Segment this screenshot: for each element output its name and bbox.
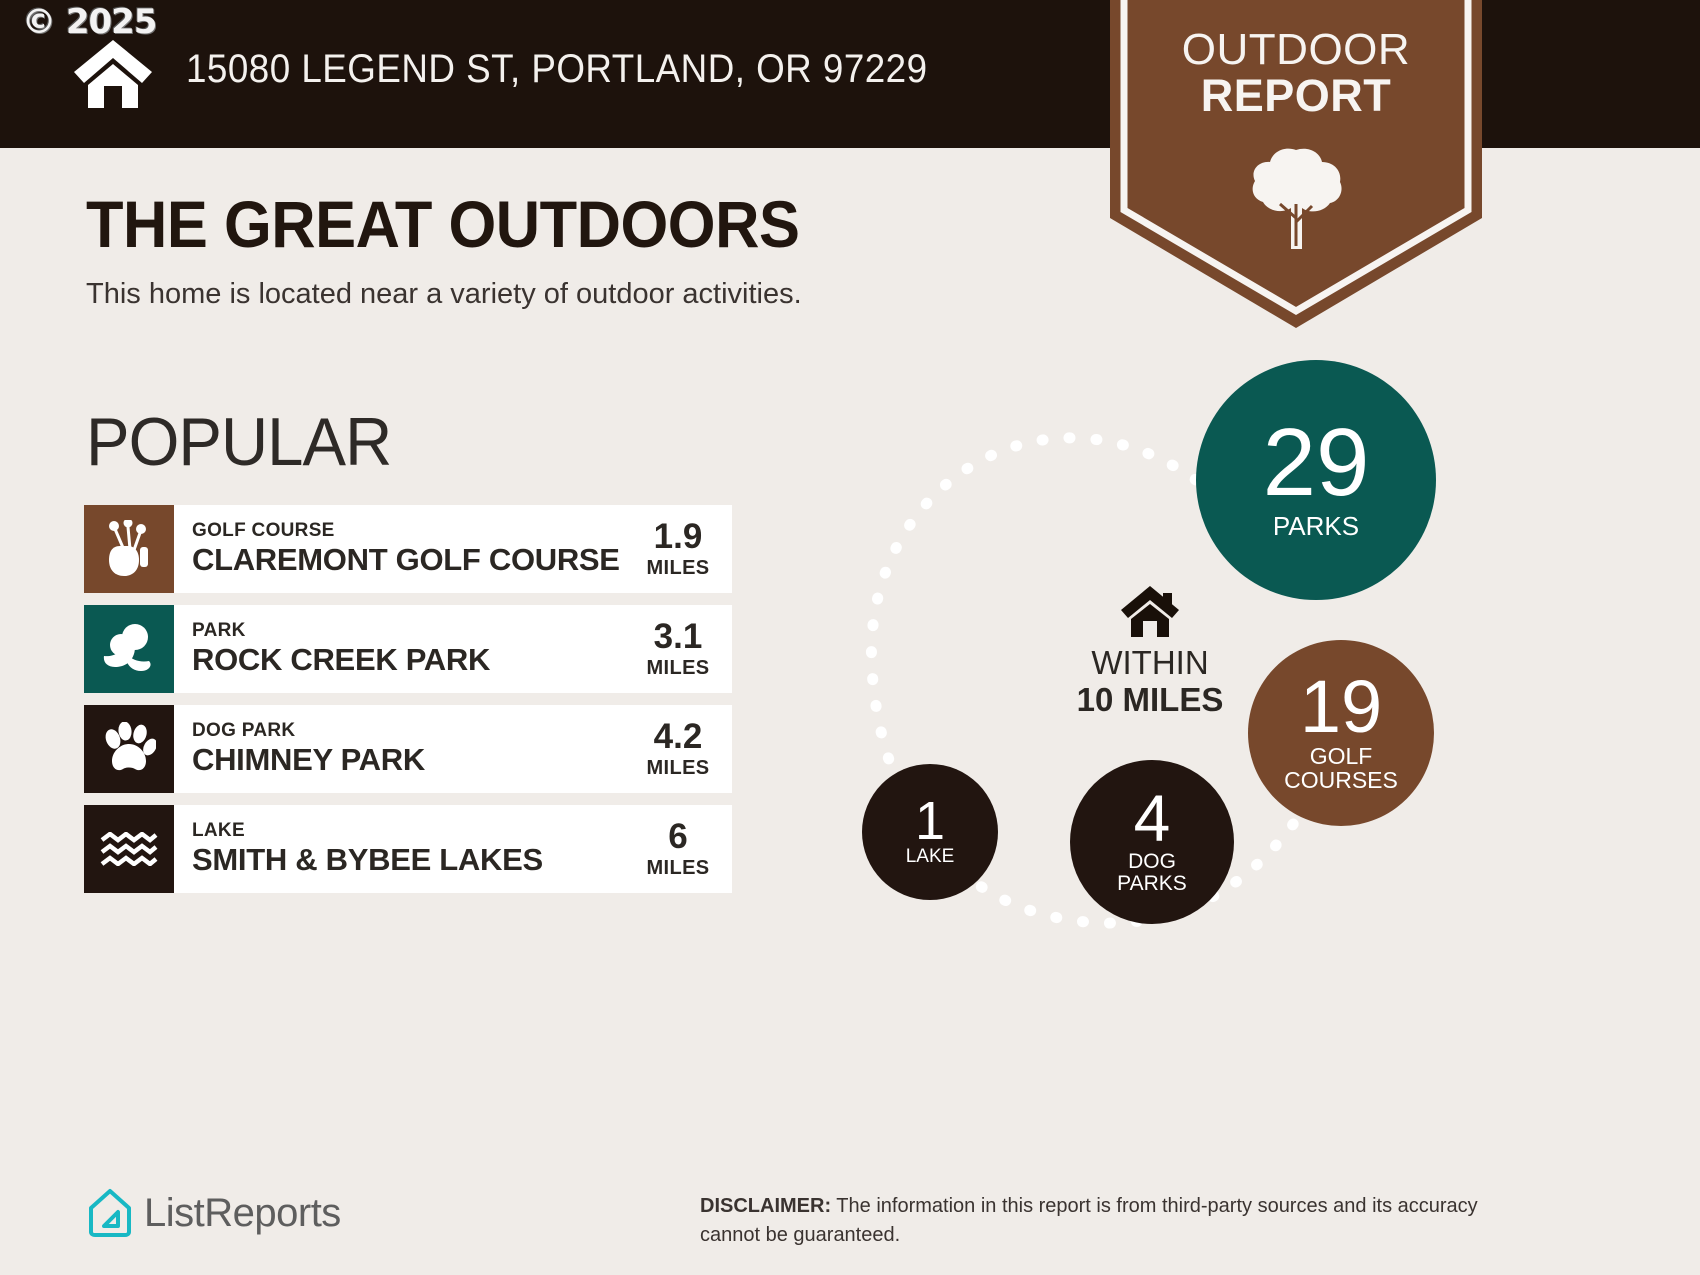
page-subtitle: This home is located near a variety of o… [86, 278, 802, 311]
chart-center-line1: WITHIN [1000, 645, 1300, 682]
listreports-logo[interactable]: ListReports [88, 1188, 341, 1238]
home-icon [72, 38, 154, 110]
disclaimer-label: DISCLAIMER: [700, 1195, 831, 1217]
list-item-distance-unit: MILES [646, 757, 709, 780]
list-item-distance-value: 4.2 [654, 719, 703, 754]
listreports-house-icon [88, 1188, 132, 1238]
bubble-dog-parks: 4 DOG PARKS [1070, 760, 1234, 924]
trees-icon [101, 623, 157, 675]
chart-center-line2: 10 MILES [1000, 682, 1300, 719]
list-item-icon-tile [84, 805, 174, 893]
list-item-distance: 3.1 MILES [630, 605, 732, 693]
list-item[interactable]: DOG PARK CHIMNEY PARK 4.2 MILES [84, 705, 732, 793]
bubble-lake: 1 LAKE [862, 764, 998, 900]
list-item-name: SMITH & BYBEE LAKES [192, 843, 630, 878]
within-10-miles-chart: 29 PARKS 19 GOLF COURSES 4 DOG PARKS 1 L… [820, 340, 1500, 1020]
list-item-distance: 1.9 MILES [630, 505, 732, 593]
list-item-icon-tile [84, 605, 174, 693]
copyright-watermark: © 2025 [22, 2, 156, 42]
bubble-dog-label: DOG PARKS [1117, 851, 1187, 895]
list-item-category: LAKE [192, 821, 630, 842]
list-item[interactable]: PARK ROCK CREEK PARK 3.1 MILES [84, 605, 732, 693]
bubble-dog-label-line2: PARKS [1117, 873, 1187, 895]
list-item-category: PARK [192, 621, 630, 642]
paw-print-icon [102, 722, 156, 776]
chart-center-label: WITHIN 10 MILES [1000, 585, 1300, 719]
list-item-distance-value: 6 [668, 819, 687, 854]
list-item-name: CHIMNEY PARK [192, 743, 630, 778]
badge-title: OUTDOOR REPORT [1110, 28, 1482, 119]
list-item-text: LAKE SMITH & BYBEE LAKES [174, 805, 630, 893]
bubble-dog-label-line1: DOG [1117, 851, 1187, 873]
listreports-logo-text: ListReports [144, 1191, 341, 1236]
bubble-lake-label: LAKE [906, 847, 955, 867]
disclaimer: DISCLAIMER: The information in this repo… [700, 1192, 1520, 1250]
list-item-text: PARK ROCK CREEK PARK [174, 605, 630, 693]
tree-icon [1246, 146, 1346, 251]
badge-title-line1: OUTDOOR [1182, 25, 1410, 74]
list-item-distance-value: 1.9 [654, 519, 703, 554]
bubble-golf-value: 19 [1300, 674, 1382, 741]
list-item-category: DOG PARK [192, 721, 630, 742]
list-item-distance: 4.2 MILES [630, 705, 732, 793]
bubble-dog-value: 4 [1134, 789, 1171, 848]
page-title: THE GREAT OUTDOORS [86, 186, 799, 262]
list-item-distance-value: 3.1 [654, 619, 703, 654]
list-item-name: CLAREMONT GOLF COURSE [192, 543, 630, 578]
bubble-parks-label: PARKS [1273, 513, 1359, 540]
badge-title-line2: REPORT [1110, 73, 1482, 119]
bubble-golf-label-line1: GOLF [1284, 744, 1398, 768]
list-item[interactable]: LAKE SMITH & BYBEE LAKES 6 MILES [84, 805, 732, 893]
list-item-icon-tile [84, 705, 174, 793]
list-item-distance-unit: MILES [646, 557, 709, 580]
water-waves-icon [100, 832, 158, 866]
bubble-parks: 29 PARKS [1196, 360, 1436, 600]
popular-heading: POPULAR [86, 403, 391, 481]
list-item-distance: 6 MILES [630, 805, 732, 893]
outdoor-report-badge: OUTDOOR REPORT [1110, 0, 1482, 328]
list-item-name: ROCK CREEK PARK [192, 643, 630, 678]
list-item-text: DOG PARK CHIMNEY PARK [174, 705, 630, 793]
popular-list: GOLF COURSE CLAREMONT GOLF COURSE 1.9 MI… [84, 505, 732, 905]
bubble-golf-label-line2: COURSES [1284, 768, 1398, 792]
golf-bag-icon [104, 520, 154, 578]
property-address: 15080 LEGEND ST, PORTLAND, OR 97229 [186, 47, 928, 92]
home-icon [1119, 585, 1181, 639]
list-item-text: GOLF COURSE CLAREMONT GOLF COURSE [174, 505, 630, 593]
bubble-parks-value: 29 [1263, 420, 1370, 506]
bubble-golf-label: GOLF COURSES [1284, 744, 1398, 792]
list-item-distance-unit: MILES [646, 657, 709, 680]
list-item-distance-unit: MILES [646, 857, 709, 880]
list-item-category: GOLF COURSE [192, 521, 630, 542]
bubble-lake-value: 1 [915, 797, 945, 846]
outdoor-report-page: © 2025 15080 LEGEND ST, PORTLAND, OR 972… [0, 0, 1700, 1275]
list-item[interactable]: GOLF COURSE CLAREMONT GOLF COURSE 1.9 MI… [84, 505, 732, 593]
list-item-icon-tile [84, 505, 174, 593]
